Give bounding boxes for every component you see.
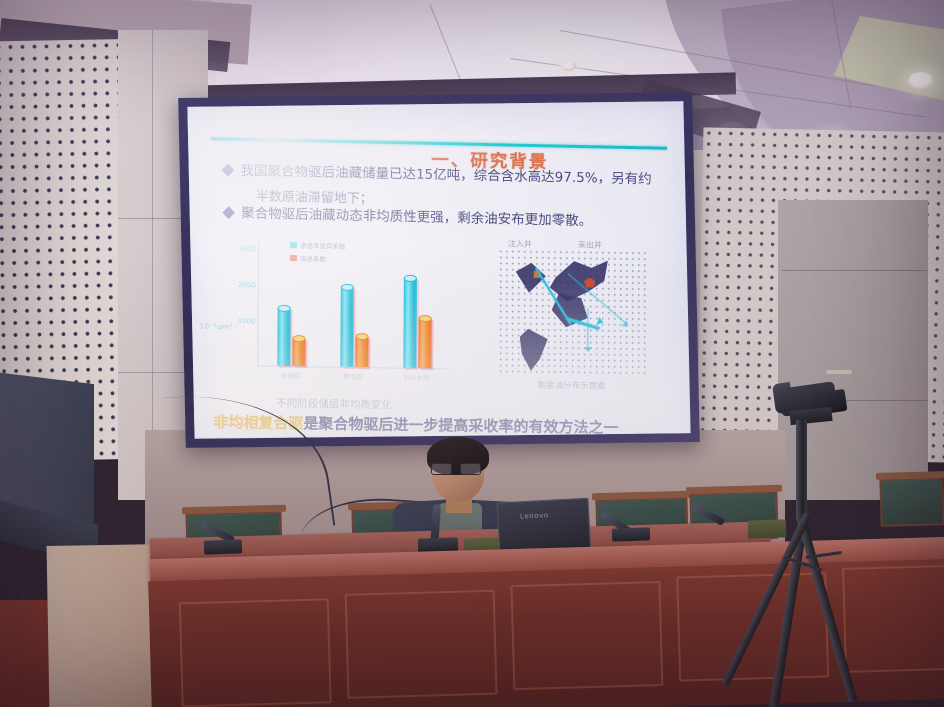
bullet-diamond-icon (222, 164, 235, 177)
bar-series1-cat1 (277, 308, 290, 366)
flow-arrow (587, 308, 588, 350)
bullet-text-2: 聚合物驱后油藏动态非均质性更强，剩余油安布更加零散。 (241, 204, 592, 230)
legend-entry-1: 渗透率变异系数 (290, 240, 346, 251)
conclusion-rest: 是聚合物驱后进一步提高采收率的有效方法之一 (303, 415, 618, 437)
screen-surface: 一、研究背景 我国聚合物驱后油藏储量已达15亿吨，综合含水高达97.5%，另有约… (187, 101, 690, 439)
chair-back (879, 477, 944, 527)
downlight-icon (560, 60, 576, 71)
microphone-base (612, 527, 650, 541)
nameplate (748, 519, 787, 538)
microphone-base (204, 539, 242, 554)
diagram-label-production-well: 采出井 (578, 239, 602, 250)
glasses-lens-left (431, 463, 452, 475)
laptop-brand-label: Lenovo (520, 511, 549, 520)
bullet-text-1: 我国聚合物驱后油藏储量已达15亿吨，综合含水高达97.5%，另有约 (240, 162, 651, 189)
chart-bars (259, 258, 450, 369)
desk-panel-inset (842, 564, 944, 673)
legend-label: 渗透率变异系数 (300, 240, 346, 251)
diagram-label-injection-well: 注入井 (508, 239, 532, 250)
bar-group (277, 308, 305, 366)
bar-group (404, 278, 432, 368)
x-tick-label: 后续水驱 (403, 372, 429, 382)
y-tick-label: 1000 (238, 317, 256, 325)
glasses-lens-right (460, 463, 481, 475)
x-tick-label: 聚驱后 (343, 371, 363, 381)
tripod-center-column[interactable] (796, 420, 807, 520)
chart-y-axis-label: 10⁻³μm² (200, 323, 233, 332)
reservoir-diagram: 注入井 采出井 剩余油分布示意图 (492, 240, 652, 390)
wall-seam (782, 270, 927, 271)
bullet-text-1-continuation: 半数原油滞留地下； (256, 185, 373, 206)
bullet-diamond-icon (222, 206, 235, 219)
desk-panel-inset (345, 590, 498, 699)
projection-screen: 一、研究背景 我国聚合物驱后油藏储量已达15亿吨，综合含水高达97.5%，另有约… (178, 92, 700, 448)
conference-room-photo: 一、研究背景 我国聚合物驱后油藏储量已达15亿吨，综合含水高达97.5%，另有约… (0, 0, 944, 707)
y-tick-label: 2000 (238, 281, 256, 289)
y-tick-label: 3000 (238, 245, 256, 253)
diagram-caption: 剩余油分布示意图 (502, 378, 642, 392)
bullet-item-2: 聚合物驱后油藏动态非均质性更强，剩余油安布更加零散。 (224, 204, 592, 231)
bar-chart: 10⁻³μm² 3000 2000 1000 渗透率变异系数 突进系数 (203, 237, 454, 391)
desk-panel-inset (179, 598, 332, 707)
bar-series1-cat2 (340, 287, 353, 367)
downlight-icon (908, 72, 934, 89)
desk-front-panel (148, 559, 944, 707)
desk-panel-inset (510, 581, 663, 690)
bar-series2-cat3 (419, 318, 432, 368)
bar-series2-cat1 (292, 338, 305, 366)
glasses-icon (431, 463, 485, 475)
bar-series1-cat3 (404, 278, 417, 368)
presentation-slide: 一、研究背景 我国聚合物驱后油藏储量已达15亿吨，综合含水高达97.5%，另有约… (188, 103, 689, 438)
arrowhead-icon (584, 347, 592, 352)
bar-series2-cat2 (355, 336, 368, 367)
bar-group (340, 287, 368, 367)
bullet-item-1: 我国聚合物驱后油藏储量已达15亿吨，综合含水高达97.5%，另有约 (223, 162, 651, 189)
legend-swatch (290, 242, 297, 248)
door-handle (826, 370, 852, 374)
x-tick-label: 水驱后 (281, 370, 301, 380)
